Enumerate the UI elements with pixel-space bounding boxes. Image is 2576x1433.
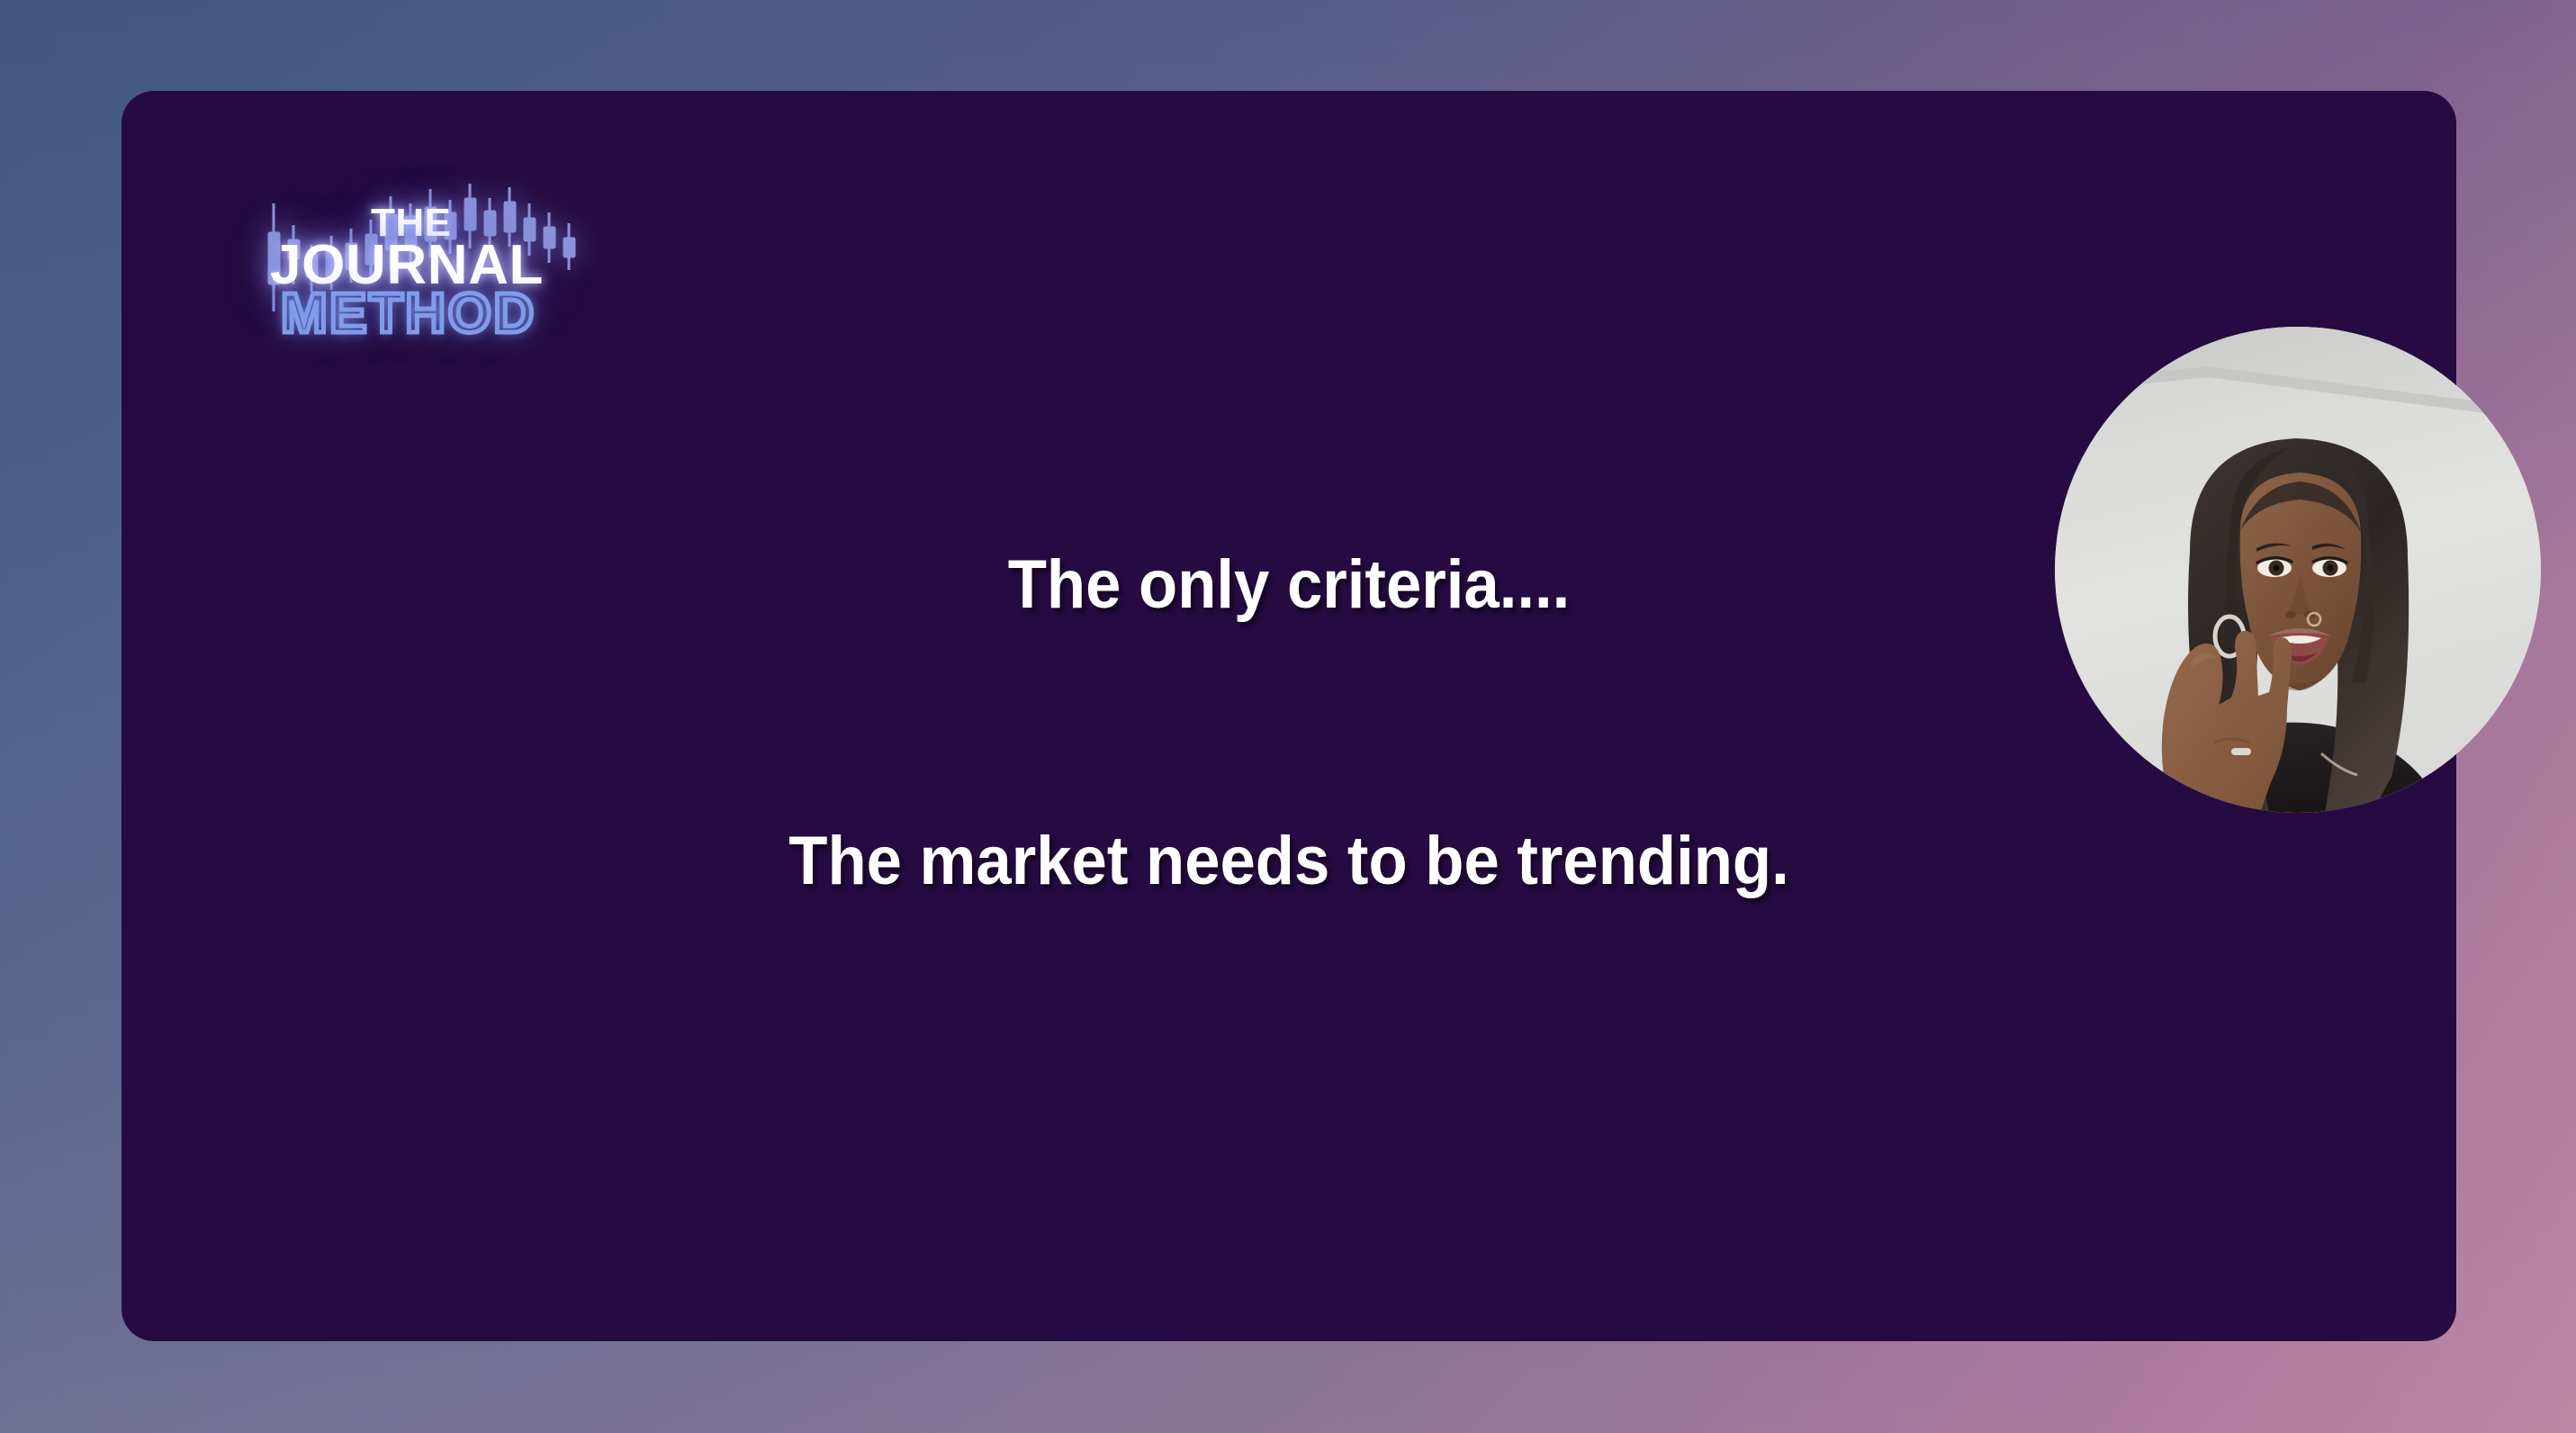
screenshot-root: THE JOURNAL METHOD The only criteria....… <box>0 0 2576 1433</box>
presenter-portrait <box>2055 327 2541 813</box>
journal-method-logo: THE JOURNAL METHOD <box>261 176 585 356</box>
caption-line-1: The only criteria.... <box>203 545 2374 624</box>
presenter-video-circle[interactable] <box>2055 327 2541 813</box>
logo-word-method: METHOD <box>281 286 536 342</box>
caption-line-2: The market needs to be trending. <box>203 822 2374 900</box>
